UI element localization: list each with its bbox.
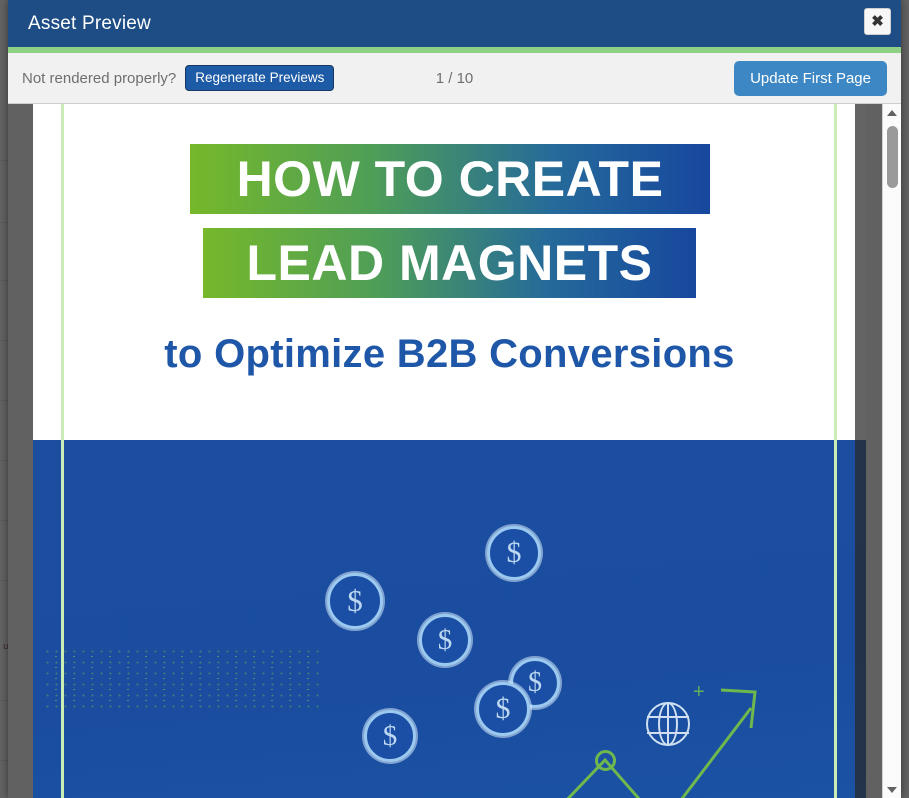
slide-subtitle: to Optimize B2B Conversions <box>33 332 866 377</box>
preview-viewport[interactable]: HOW TO CREATE LEAD MAGNETS to Optimize B… <box>8 104 901 798</box>
close-icon: ✖ <box>871 14 884 29</box>
preview-gutter-left <box>8 104 33 798</box>
scroll-down-arrow-icon[interactable] <box>883 781 901 798</box>
scroll-up-arrow-icon[interactable] <box>883 104 901 121</box>
scrollbar-thumb[interactable] <box>887 126 898 188</box>
asset-preview-modal: Asset Preview ✖ Not rendered properly? R… <box>8 0 901 798</box>
preview-toolbar: Not rendered properly? Regenerate Previe… <box>8 53 901 104</box>
trend-arrow-icon <box>33 440 866 798</box>
modal-header: Asset Preview ✖ <box>8 0 901 47</box>
guide-line-left <box>61 104 64 798</box>
slide-page-1: HOW TO CREATE LEAD MAGNETS to Optimize B… <box>33 104 866 798</box>
chart-node <box>595 750 616 771</box>
slide-title-area: HOW TO CREATE LEAD MAGNETS to Optimize B… <box>33 104 866 440</box>
triangle-down-icon <box>887 787 897 793</box>
slide-title-line-2: LEAD MAGNETS <box>203 228 696 298</box>
triangle-up-icon <box>887 110 897 116</box>
guide-line-right <box>834 104 837 798</box>
page-title: Asset Preview <box>8 13 151 35</box>
preview-gutter-right <box>855 104 882 798</box>
regenerate-previews-button[interactable]: Regenerate Previews <box>185 65 334 92</box>
slide-illustration: $$$$$$ + <box>33 440 866 798</box>
preview-scrollbar[interactable] <box>882 104 901 798</box>
render-note-label: Not rendered properly? <box>8 70 176 87</box>
update-first-page-button[interactable]: Update First Page <box>734 61 887 96</box>
slide-title-line-1: HOW TO CREATE <box>190 144 710 214</box>
close-button[interactable]: ✖ <box>864 8 891 35</box>
